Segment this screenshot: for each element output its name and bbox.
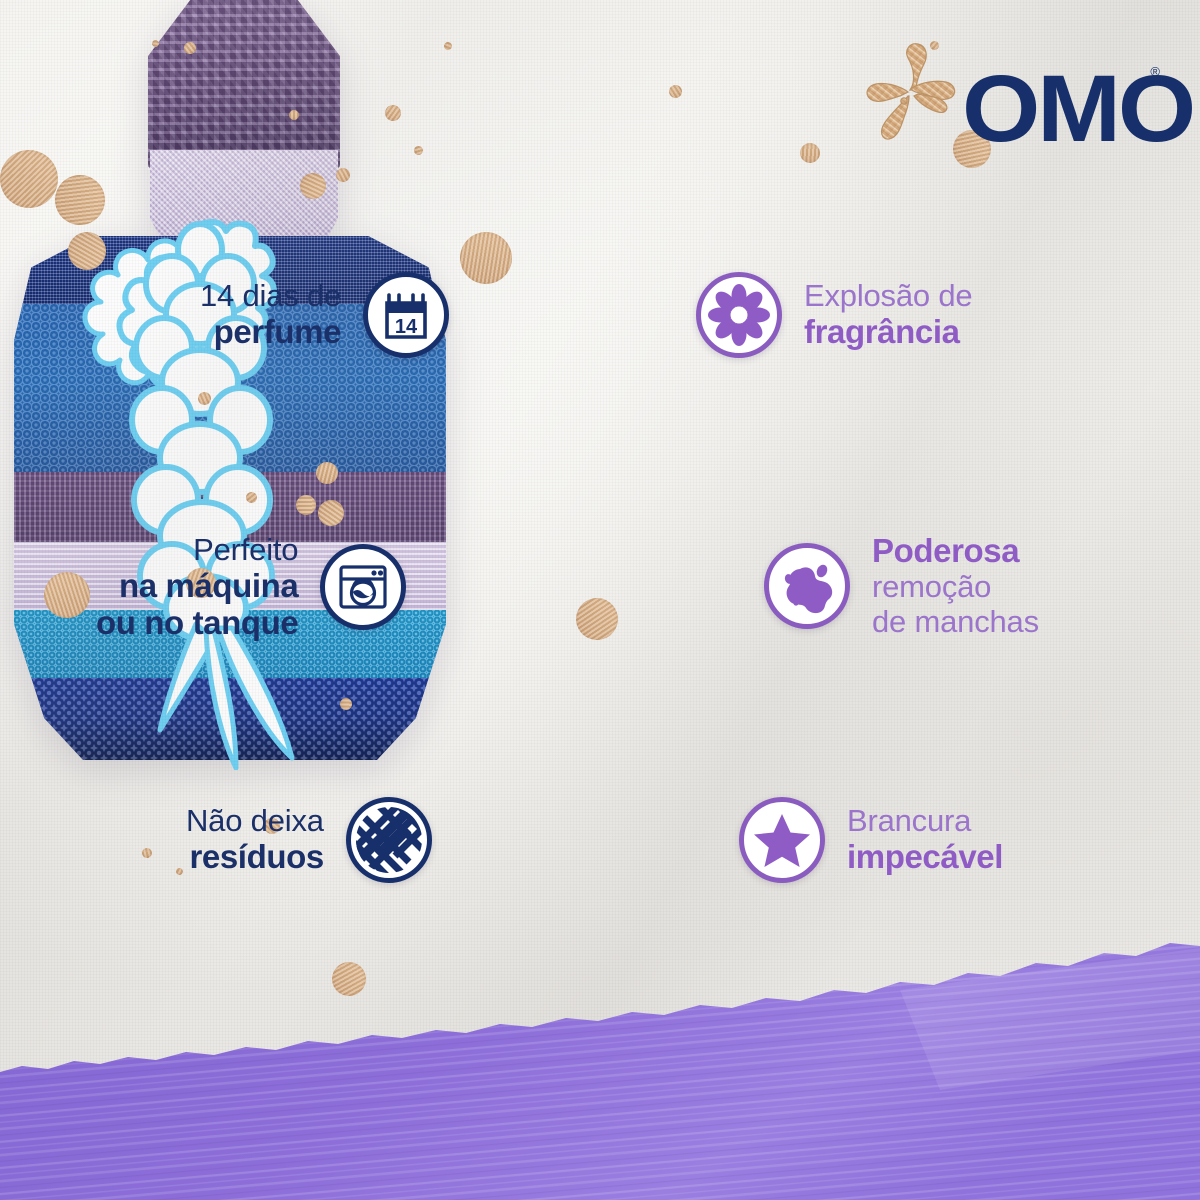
feature-fragrancia-text: Explosão de fragrância xyxy=(804,279,972,351)
infographic-canvas: OMO ® xyxy=(0,0,1200,1200)
feature-residuos-line-1: Não deixa xyxy=(186,804,324,839)
washing-machine-icon[interactable] xyxy=(320,544,406,630)
feature-perfume[interactable]: 14 dias de perfume 14 xyxy=(200,272,449,358)
feature-remocao-line-1: Poderosa xyxy=(872,533,1039,570)
feature-maquina-line-3: ou no tanque xyxy=(96,605,298,642)
splatter-dot xyxy=(184,42,196,54)
feature-brancura-line-2: impecável xyxy=(847,839,1003,876)
splatter-dot xyxy=(796,139,824,167)
feature-fragrancia-line-1: Explosão de xyxy=(804,279,972,314)
splatter-dot xyxy=(296,169,331,204)
trademark-symbol: ® xyxy=(1150,64,1160,79)
feature-residuos-text: Não deixa resíduos xyxy=(186,804,324,876)
omo-logo: OMO ® xyxy=(862,34,1162,184)
splatter-dot xyxy=(287,108,301,122)
splatter-dot xyxy=(62,226,111,275)
feature-remocao-text: Poderosa remoção de manchas xyxy=(872,533,1039,639)
feature-fragrancia-line-2: fragrância xyxy=(804,314,972,351)
feature-remocao-line-3: de manchas xyxy=(872,605,1039,640)
calendar-icon[interactable]: 14 xyxy=(363,272,449,358)
splatter-dot xyxy=(0,147,61,211)
feature-perfume-line-1: 14 dias de xyxy=(200,279,341,314)
splatter-dot xyxy=(668,84,682,98)
feature-maquina-tanque[interactable]: Perfeito na máquina ou no tanque xyxy=(96,533,406,642)
star-icon[interactable] xyxy=(739,797,825,883)
calendar-day-number: 14 xyxy=(395,316,418,338)
splatter-dot xyxy=(197,391,213,407)
fabric-weave-icon[interactable] xyxy=(346,797,432,883)
splatter-decoration xyxy=(0,0,420,460)
feature-brancura-text: Brancura impecável xyxy=(847,804,1003,876)
flower-icon[interactable] xyxy=(696,272,782,358)
splatter-dot xyxy=(151,39,161,49)
feature-remocao-manchas[interactable]: Poderosa remoção de manchas xyxy=(764,533,1039,639)
splatter-dot xyxy=(140,846,153,859)
feature-perfume-line-2: perfume xyxy=(200,314,341,351)
feature-maquina-line-2: na máquina xyxy=(96,568,298,605)
bottom-brush-band xyxy=(0,930,1200,1200)
feature-maquina-text: Perfeito na máquina ou no tanque xyxy=(96,533,298,642)
feature-maquina-line-1: Perfeito xyxy=(96,533,298,568)
splatter-dot xyxy=(575,597,620,642)
feature-fragrancia[interactable]: Explosão de fragrância xyxy=(696,272,972,358)
splatter-dot xyxy=(383,103,403,123)
splat-icon xyxy=(858,38,968,158)
splatter-dot xyxy=(175,867,184,876)
feature-perfume-text: 14 dias de perfume xyxy=(200,279,341,351)
feature-residuos[interactable]: Não deixa resíduos xyxy=(186,797,432,883)
stain-icon[interactable] xyxy=(764,543,850,629)
splatter-dot xyxy=(335,167,351,183)
feature-remocao-line-2: remoção xyxy=(872,570,1039,605)
feature-residuos-line-2: resíduos xyxy=(186,839,324,876)
feature-brancura[interactable]: Brancura impecável xyxy=(739,797,1003,883)
feature-brancura-line-1: Brancura xyxy=(847,804,1003,839)
splatter-dot xyxy=(449,221,522,294)
